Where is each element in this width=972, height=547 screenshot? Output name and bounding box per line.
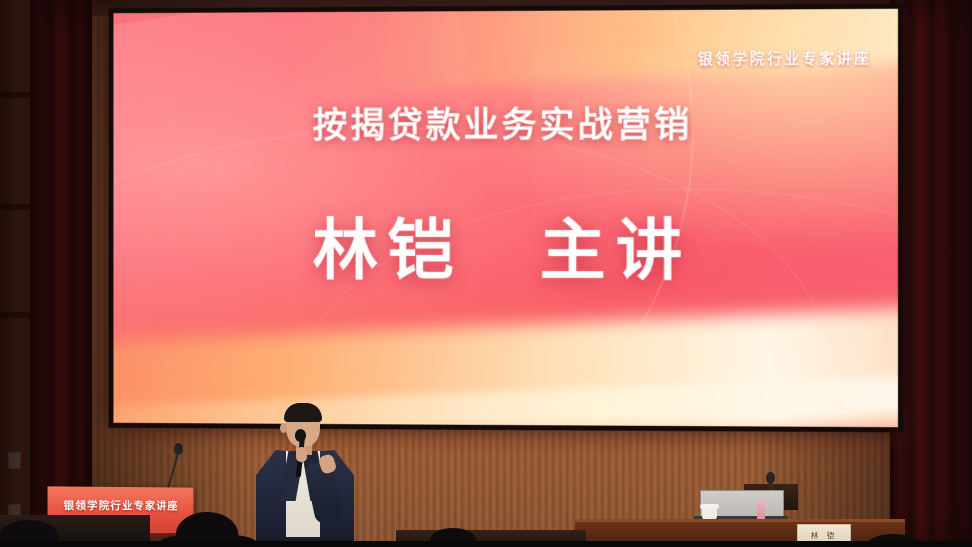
screen-subtitle: 林铠 主讲 — [113, 197, 898, 294]
led-screen-surface: 银领学院行业专家讲座 按揭贷款业务实战营销 林铠 主讲 — [113, 9, 898, 428]
speaker-mic-hand — [296, 447, 307, 462]
screen-corner-title: 银领学院行业专家讲座 — [698, 47, 872, 69]
lecture-photograph: 银领学院行业专家讲座 按揭贷款业务实战营销 林铠 主讲 银领学院行业专家讲座 林… — [0, 0, 972, 547]
speaker-hair — [284, 403, 322, 422]
name-card-text: 林 铠 — [798, 530, 850, 541]
desk-microphone-icon — [766, 472, 775, 484]
podium-banner-text: 银领学院行业专家讲座 — [48, 498, 194, 513]
teacup-lid — [700, 504, 719, 509]
water-bottle — [757, 499, 765, 521]
handheld-microphone-icon — [295, 429, 306, 442]
podium-microphone-icon — [174, 443, 183, 455]
speaker-ear — [280, 423, 287, 433]
led-screen: 银领学院行业专家讲座 按揭贷款业务实战营销 林铠 主讲 — [109, 4, 904, 433]
speaker-person — [246, 403, 364, 547]
floor-edge — [0, 541, 972, 547]
screen-main-title: 按揭贷款业务实战营销 — [113, 96, 898, 149]
